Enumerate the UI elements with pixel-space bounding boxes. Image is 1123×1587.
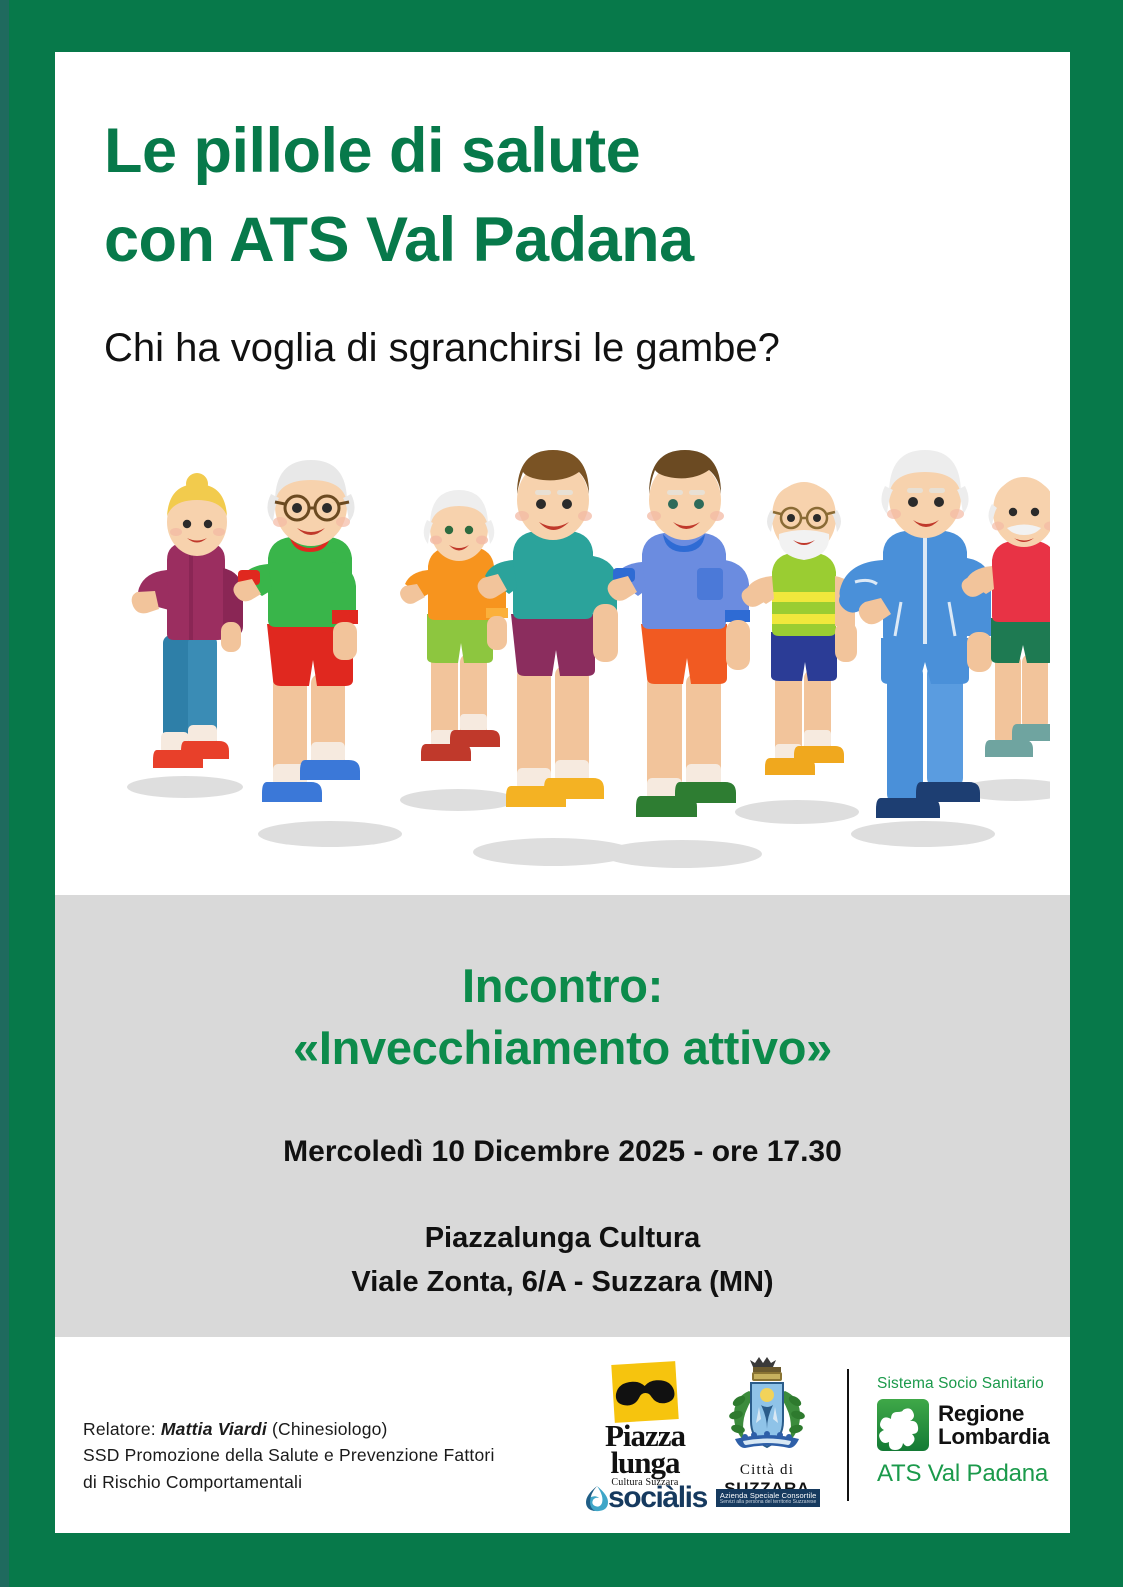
speaker-credits-line-2: SSD Promozione della Salute e Prevenzion… xyxy=(83,1442,495,1468)
event-venue-address: Viale Zonta, 6/A - Suzzara (MN) xyxy=(55,1261,1070,1305)
piazzalunga-mark-icon xyxy=(611,1361,678,1423)
event-details-panel: Incontro: «Invecchiamento attivo» Mercol… xyxy=(55,895,1070,1337)
figure-1 xyxy=(132,473,243,768)
figure-3 xyxy=(400,490,508,761)
socialis-badge-subtitle: Servizi alla persona del territorio Suzz… xyxy=(720,1500,817,1506)
left-edge-strip xyxy=(0,0,9,1587)
event-venue-name: Piazzalunga Cultura xyxy=(55,1217,1070,1261)
event-heading-line-1: Incontro: xyxy=(55,955,1070,1017)
poster-subtitle: Chi ha voglia di sgranchirsi le gambe? xyxy=(104,324,780,372)
poster-sheet: Le pillole di salute con ATS Val Padana … xyxy=(55,52,1070,1533)
event-datetime: Mercoledì 10 Dicembre 2025 - ore 17.30 xyxy=(55,1135,1070,1169)
logo-divider xyxy=(847,1369,849,1501)
poster-root: Le pillole di salute con ATS Val Padana … xyxy=(0,0,1123,1587)
regione-lombardia-text: Regione Lombardia xyxy=(938,1402,1049,1449)
figure-7 xyxy=(839,450,992,818)
figure-5 xyxy=(608,450,750,817)
figure-6 xyxy=(742,482,857,775)
poster-title: Le pillole di salute con ATS Val Padana xyxy=(104,107,1034,286)
mustache-icon xyxy=(614,1378,675,1408)
walking-people-illustration xyxy=(75,442,1050,872)
suzzara-line-1: Città di xyxy=(707,1462,827,1479)
event-heading-line-2: «Invecchiamento attivo» xyxy=(55,1017,1070,1079)
socialis-logo: sociàlis Azienda Speciale Consortile Ser… xyxy=(585,1481,830,1515)
ats-val-padana-logo: Sistema Socio Sanitario xyxy=(877,1375,1057,1488)
speaker-credits-line-1: Relatore: Mattia Viardi (Chinesiologo) xyxy=(83,1416,495,1442)
socialis-mark-icon xyxy=(585,1485,610,1512)
ats-name: ATS Val Padana xyxy=(877,1460,1057,1488)
suzzara-crest-icon xyxy=(723,1357,811,1461)
figure-2 xyxy=(233,460,360,802)
speaker-credits-line-3: di Rischio Comportamentali xyxy=(83,1469,495,1495)
poster-footer: Relatore: Mattia Viardi (Chinesiologo) S… xyxy=(55,1337,1070,1533)
suzzara-city-logo: Città di SUZZARA xyxy=(707,1357,827,1499)
piazzalunga-word-2: lunga xyxy=(585,1450,705,1477)
regione-lombardia-lockup: Regione Lombardia xyxy=(877,1399,1057,1451)
speaker-role: (Chinesiologo) xyxy=(267,1419,388,1439)
partner-logos: Piazza lunga Cultura Suzzara xyxy=(585,1353,1055,1523)
speaker-name: Mattia Viardi xyxy=(161,1419,267,1439)
rosa-camuna-icon xyxy=(877,1399,929,1451)
regione-line-2: Lombardia xyxy=(938,1425,1049,1448)
ats-system-label: Sistema Socio Sanitario xyxy=(877,1375,1057,1393)
speaker-label: Relatore: xyxy=(83,1419,161,1439)
speaker-credits: Relatore: Mattia Viardi (Chinesiologo) S… xyxy=(83,1416,495,1495)
piazzalunga-logo: Piazza lunga Cultura Suzzara xyxy=(585,1363,705,1488)
regione-line-1: Regione xyxy=(938,1402,1049,1425)
title-line-1: Le pillole di salute xyxy=(104,107,1034,196)
event-venue: Piazzalunga Cultura Viale Zonta, 6/A - S… xyxy=(55,1217,1070,1304)
title-line-2: con ATS Val Padana xyxy=(104,196,1034,285)
socialis-badge: Azienda Speciale Consortile Servizi alla… xyxy=(716,1489,821,1506)
event-heading: Incontro: «Invecchiamento attivo» xyxy=(55,895,1070,1079)
socialis-wordmark: sociàlis xyxy=(608,1481,707,1515)
